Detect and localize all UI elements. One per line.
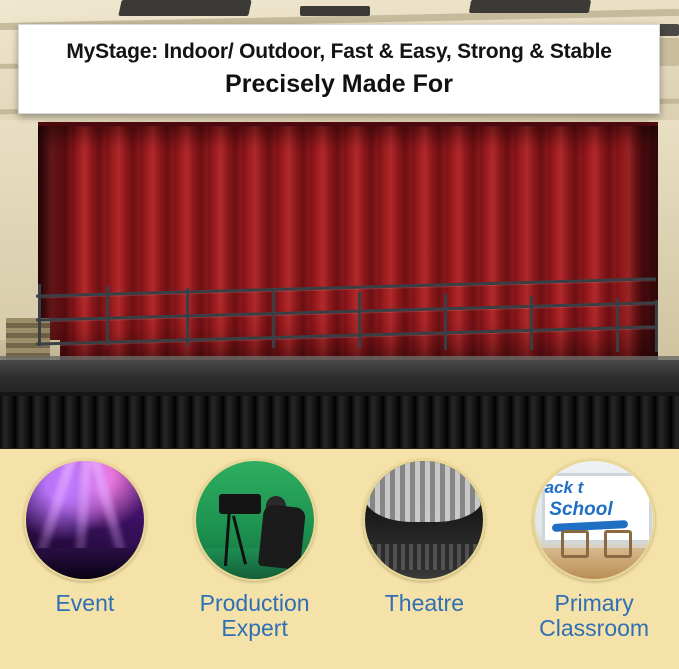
use-case-theatre[interactable]: Theatre	[344, 459, 504, 616]
ceiling-light-fixture	[469, 0, 591, 13]
rail-post	[38, 284, 41, 346]
ceiling-light-fixture	[118, 0, 251, 16]
use-case-row: Event Production Expert	[0, 459, 679, 641]
rail-post	[272, 290, 275, 348]
classroom-floor	[535, 548, 653, 579]
rail-post	[530, 296, 533, 350]
rail-post	[655, 300, 658, 352]
theatre-stage-thumb	[363, 459, 485, 581]
board-text-line-1: ack t	[545, 478, 584, 498]
rail-bar-mid	[36, 301, 656, 321]
use-case-strip: Event Production Expert	[0, 449, 679, 669]
concert-lighting-thumb	[24, 459, 146, 581]
stage-guard-rail	[10, 280, 660, 360]
use-case-production-expert[interactable]: Production Expert	[175, 459, 335, 641]
product-image: MyStage: Indoor/ Outdoor, Fast & Easy, S…	[0, 0, 679, 669]
audience	[365, 544, 483, 570]
use-case-label: Event	[55, 591, 114, 616]
use-case-label: Primary Classroom	[539, 591, 649, 641]
use-case-label-line-1: Production	[200, 590, 310, 616]
rail-post	[616, 298, 619, 352]
rail-post	[186, 288, 189, 346]
headline-line-1: MyStage: Indoor/ Outdoor, Fast & Easy, S…	[66, 40, 611, 64]
chair	[561, 530, 589, 558]
board-text-line-2: School	[549, 499, 612, 521]
camera-operator-green-screen-thumb	[194, 459, 316, 581]
theatre-drape	[365, 461, 483, 522]
headline-line-2: Precisely Made For	[225, 70, 453, 99]
use-case-primary-classroom[interactable]: ack t School Primary Classroom	[514, 459, 674, 641]
rail-bar-bottom	[36, 325, 656, 345]
rail-post	[444, 294, 447, 350]
use-case-label-line-2: Expert	[221, 615, 287, 641]
use-case-label: Production Expert	[200, 591, 310, 641]
stage-floor	[26, 548, 144, 579]
rail-post	[106, 286, 109, 346]
chair	[604, 530, 632, 558]
video-camera	[219, 494, 261, 514]
rail-bar-top	[36, 277, 656, 297]
use-case-label: Theatre	[385, 591, 464, 616]
back-to-school-thumb: ack t School	[533, 459, 655, 581]
ceiling-light-fixture	[300, 6, 370, 16]
stage-skirt	[0, 396, 679, 448]
operator-body	[257, 504, 305, 570]
headline-banner: MyStage: Indoor/ Outdoor, Fast & Easy, S…	[18, 24, 660, 114]
use-case-event[interactable]: Event	[5, 459, 165, 616]
use-case-label-line-1: Primary	[555, 590, 634, 616]
use-case-label-line-2: Classroom	[539, 615, 649, 641]
rail-post	[358, 292, 361, 348]
